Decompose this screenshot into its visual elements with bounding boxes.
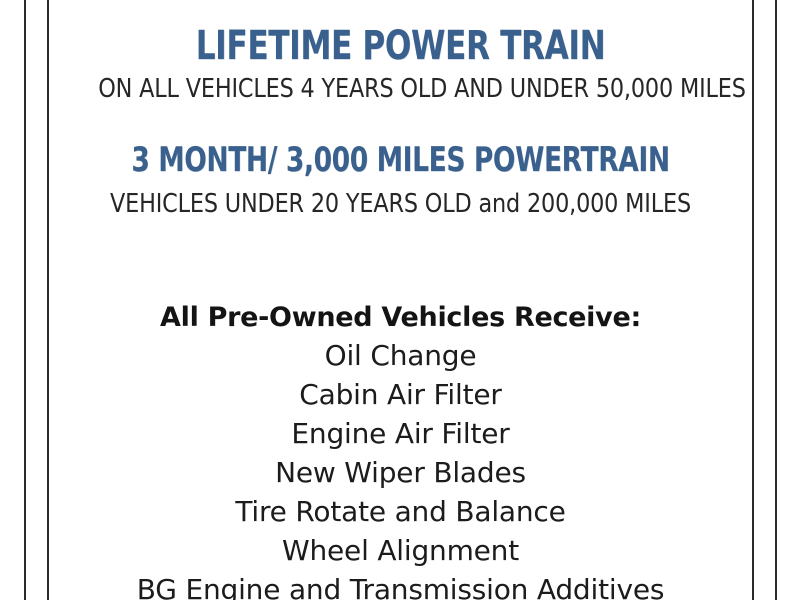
- service-item: Wheel Alignment: [49, 531, 752, 570]
- warranty-title-three-month: 3 MONTH/ 3,000 MILES POWERTRAIN: [126, 138, 674, 182]
- service-item: BG Engine and Transmission Additives: [49, 570, 752, 600]
- warranty-subtitle-three-month: VEHICLES UNDER 20 YEARS OLD and 200,000 …: [98, 189, 703, 219]
- warranty-block-lifetime: LIFETIME POWER TRAIN ON ALL VEHICLES 4 Y…: [49, 24, 752, 104]
- frame-rule-right-outer: [775, 0, 777, 600]
- services-section: All Pre-Owned Vehicles Receive: Oil Chan…: [49, 300, 752, 600]
- warranty-block-three-month: 3 MONTH/ 3,000 MILES POWERTRAIN VEHICLES…: [49, 138, 752, 219]
- service-item: Engine Air Filter: [49, 414, 752, 453]
- frame-rule-right-inner: [752, 0, 754, 600]
- warranty-subtitle-lifetime: ON ALL VEHICLES 4 YEARS OLD AND UNDER 50…: [98, 74, 703, 104]
- services-heading: All Pre-Owned Vehicles Receive:: [49, 300, 752, 336]
- frame-rule-left-outer: [24, 0, 26, 600]
- warranty-title-lifetime: LIFETIME POWER TRAIN: [126, 24, 674, 68]
- service-item: Tire Rotate and Balance: [49, 492, 752, 531]
- service-item: Oil Change: [49, 336, 752, 375]
- service-item: New Wiper Blades: [49, 453, 752, 492]
- dealership-warranty-flyer: LIFETIME POWER TRAIN ON ALL VEHICLES 4 Y…: [0, 0, 800, 600]
- service-item: Cabin Air Filter: [49, 375, 752, 414]
- flyer-content: LIFETIME POWER TRAIN ON ALL VEHICLES 4 Y…: [49, 0, 752, 600]
